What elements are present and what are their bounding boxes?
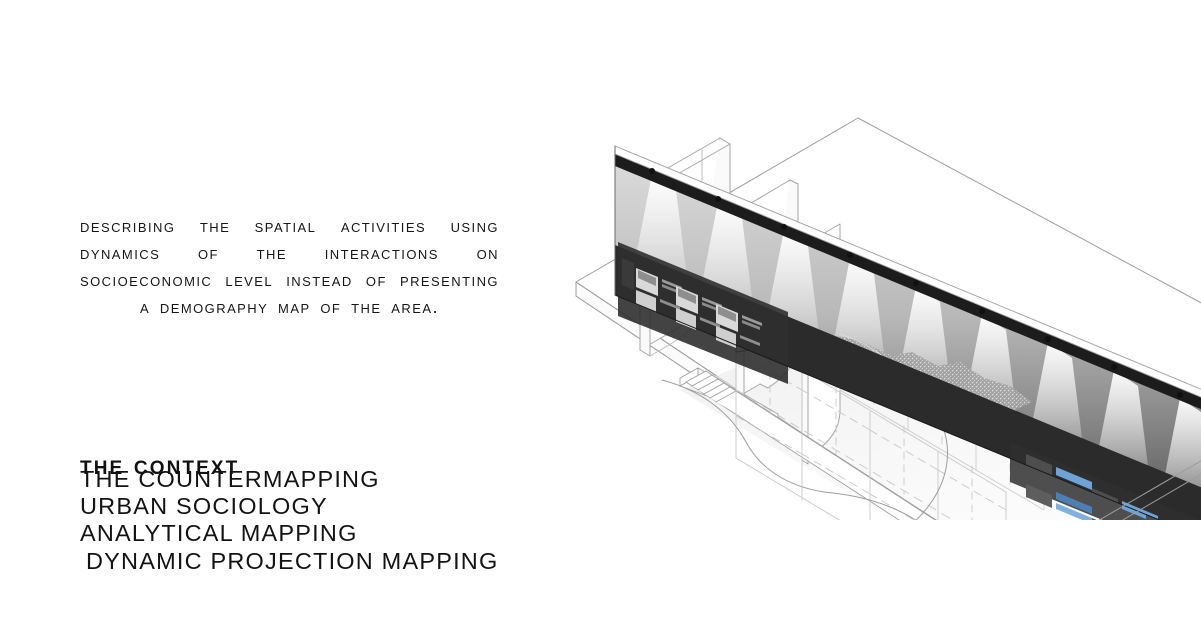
list-item: Analytical mapping bbox=[80, 520, 498, 547]
list-item: Dynamic projection mapping bbox=[80, 548, 498, 575]
text-column: Describing the spatial activities using … bbox=[0, 0, 540, 630]
axonometric-drawing bbox=[540, 90, 1201, 520]
context-list: The countermapping Urban sociology Analy… bbox=[80, 466, 498, 575]
list-item: The countermapping bbox=[80, 466, 498, 493]
description-paragraph: Describing the spatial activities using … bbox=[80, 212, 499, 321]
list-item: Urban sociology bbox=[80, 493, 498, 520]
